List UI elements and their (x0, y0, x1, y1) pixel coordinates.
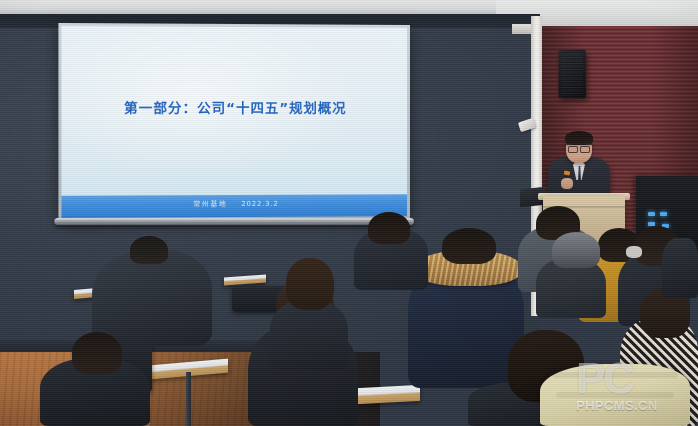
desk-leg (186, 372, 191, 426)
slide-title: 第一部分：公司“十四五”规划概况 (61, 97, 407, 117)
attendee-head (442, 228, 496, 264)
attendee-torso (92, 250, 212, 346)
eyeglasses-icon (568, 146, 590, 151)
attendee-head (130, 236, 168, 264)
slide-surface: 第一部分：公司“十四五”规划概况 常州基地2022.3.2 (61, 26, 407, 218)
attendee-torso (662, 238, 698, 298)
slide-footer-location: 常州基地 (193, 200, 227, 208)
microphone-band (564, 171, 571, 176)
slide-footer: 常州基地2022.3.2 (61, 198, 407, 210)
rack-led-indicator (660, 212, 667, 216)
slide-footer-date: 2022.3.2 (241, 200, 278, 208)
attendee-head (72, 332, 122, 374)
projector-glow (61, 26, 407, 218)
projection-screen: 第一部分：公司“十四五”规划概况 常州基地2022.3.2 (58, 23, 410, 221)
presenter-hair (565, 131, 593, 145)
gray-cap-icon (552, 232, 600, 268)
slide-footer-bar: 常州基地2022.3.2 (61, 194, 407, 218)
presenter-hand (561, 178, 573, 189)
screen-bottom-bar (54, 218, 414, 225)
presentation-photo: 第一部分：公司“十四五”规划概况 常州基地2022.3.2 (0, 0, 698, 426)
puffer-seam (556, 392, 674, 398)
attendee-head (368, 212, 410, 244)
face-mask-icon (626, 246, 642, 258)
attendee-head (286, 258, 334, 310)
rack-led-indicator (648, 212, 655, 216)
attendee-torso (270, 300, 348, 370)
wall-speaker-icon (559, 50, 586, 99)
puffer-seam (552, 372, 678, 378)
